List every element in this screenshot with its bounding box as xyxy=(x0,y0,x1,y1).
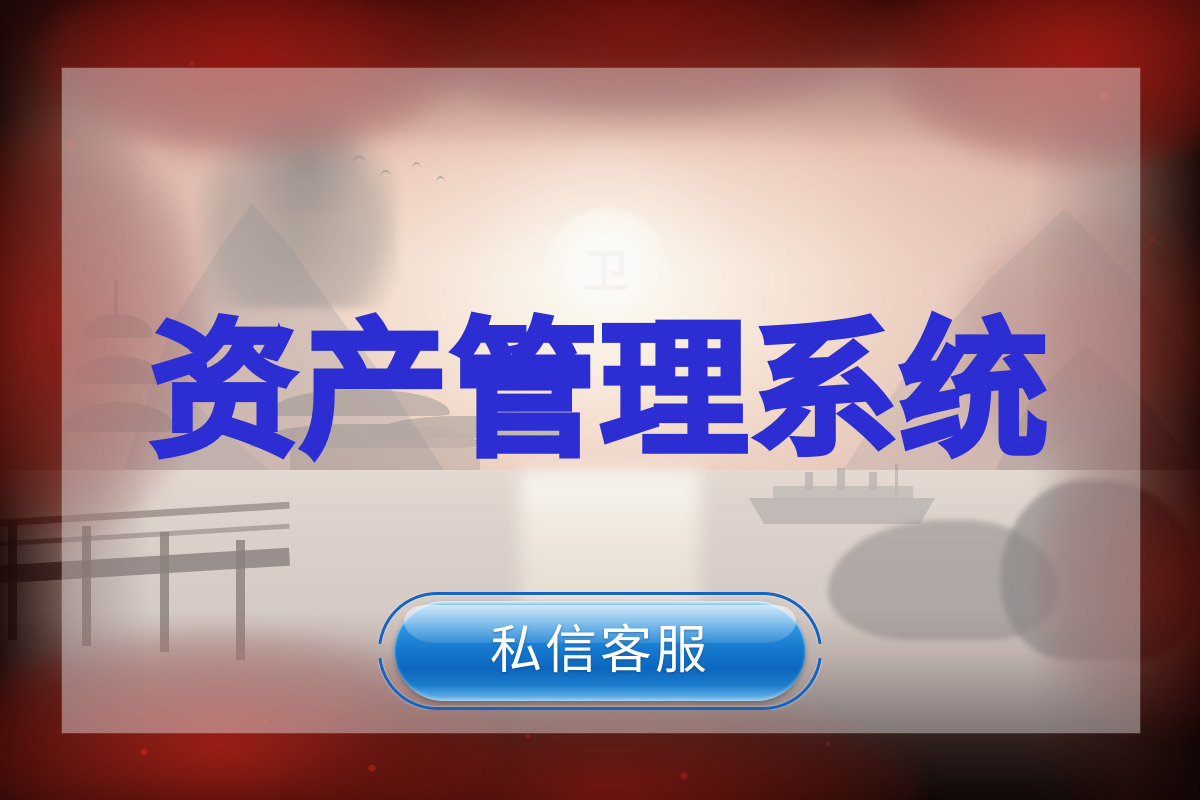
contact-support-button[interactable]: 私信客服 xyxy=(394,601,806,701)
contact-support-button-label: 私信客服 xyxy=(490,623,710,679)
promo-poster: 卫 xyxy=(0,0,1200,800)
cta-container: 私信客服 xyxy=(378,592,822,710)
page-title: 资产管理系统 xyxy=(0,312,1200,470)
